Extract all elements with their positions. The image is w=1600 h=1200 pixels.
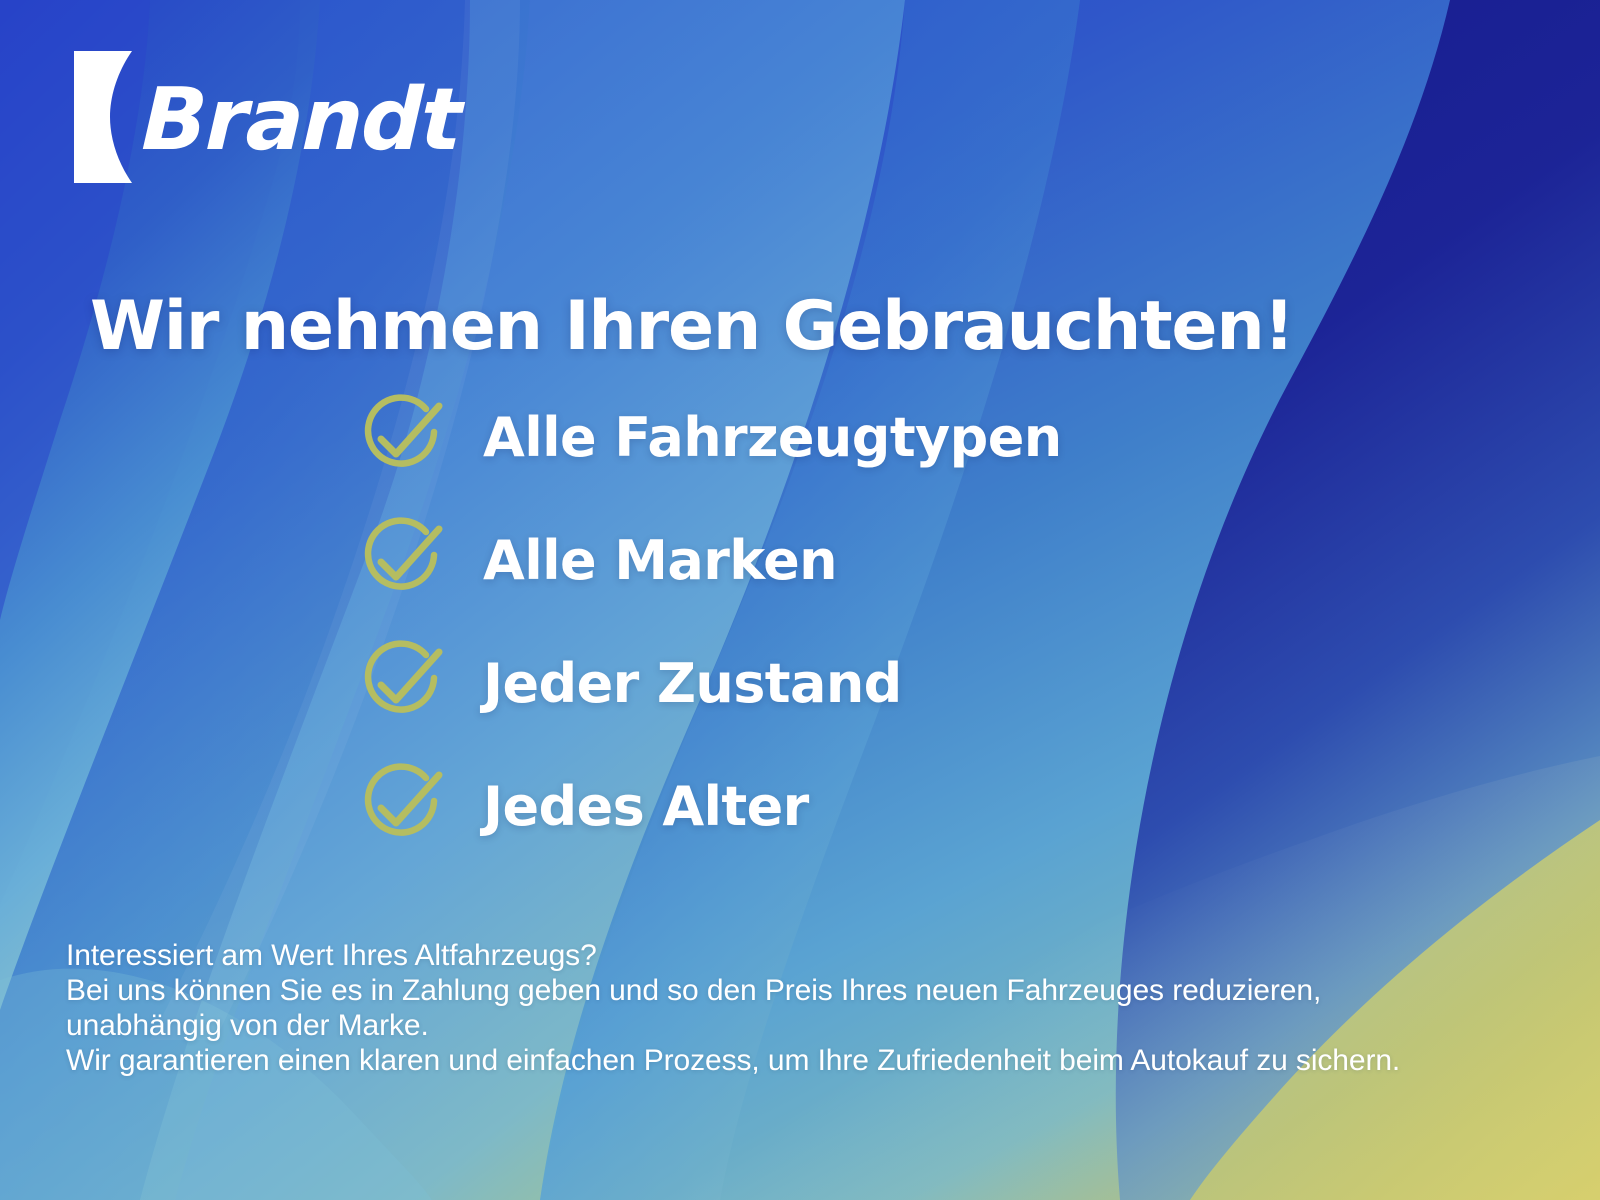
check-circle-icon: [355, 515, 447, 607]
poster-content: Brandt Wir nehmen Ihren Gebrauchten! All…: [0, 0, 1600, 1200]
footer-line-1: Interessiert am Wert Ihres Altfahrzeugs?: [66, 938, 1546, 973]
list-item: Jedes Alter: [355, 761, 1062, 853]
list-item: Alle Marken: [355, 515, 1062, 607]
footer-line-3: unabhängig von der Marke.: [66, 1008, 1546, 1043]
footer-description: Interessiert am Wert Ihres Altfahrzeugs?…: [66, 938, 1546, 1078]
brand-logo: Brandt: [74, 52, 460, 182]
list-item: Jeder Zustand: [355, 638, 1062, 730]
list-item: Alle Fahrzeugtypen: [355, 392, 1062, 484]
footer-line-2: Bei uns können Sie es in Zahlung geben u…: [66, 973, 1546, 1008]
promo-poster: Brandt Wir nehmen Ihren Gebrauchten! All…: [0, 0, 1600, 1200]
list-item-label: Alle Fahrzeugtypen: [483, 411, 1062, 465]
check-circle-icon: [355, 761, 447, 853]
page-title: Wir nehmen Ihren Gebrauchten!: [90, 289, 1293, 365]
feature-list: Alle Fahrzeugtypen Alle Marken Jeder Zus…: [355, 392, 1062, 853]
bracket-crescent-mark-icon: [74, 51, 146, 183]
brand-name: Brandt: [140, 77, 461, 163]
list-item-label: Jedes Alter: [483, 780, 809, 834]
footer-line-4: Wir garantieren einen klaren und einfach…: [66, 1043, 1546, 1078]
list-item-label: Alle Marken: [483, 534, 837, 588]
check-circle-icon: [355, 392, 447, 484]
list-item-label: Jeder Zustand: [483, 657, 902, 711]
check-circle-icon: [355, 638, 447, 730]
